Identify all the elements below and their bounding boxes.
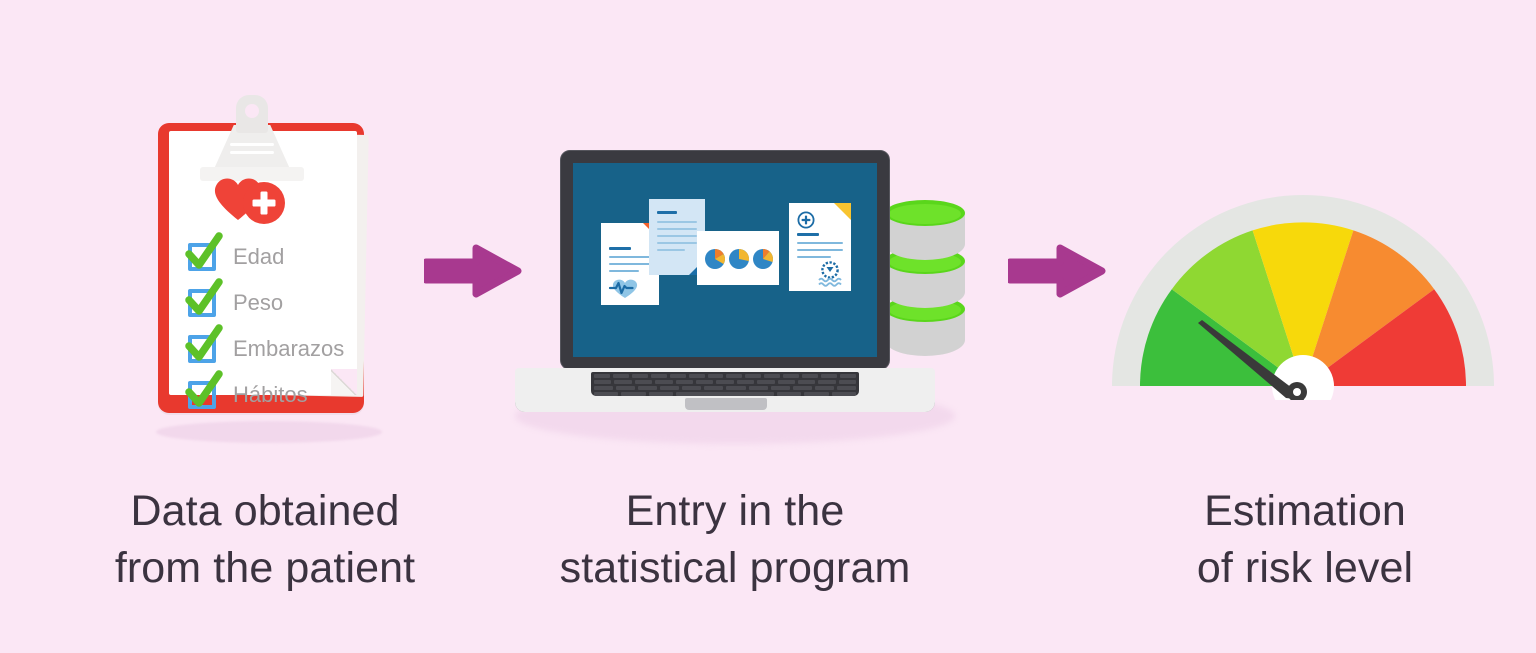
heart-plus-icon [206, 175, 316, 231]
database-disk-top [885, 200, 965, 226]
step-3-caption: Estimation of risk level [1085, 483, 1525, 597]
infographic-canvas: Edad Peso Embarazos [0, 0, 1536, 653]
medical-certificate-document[interactable] [789, 203, 851, 291]
check-icon [185, 232, 223, 277]
check-icon [185, 324, 223, 369]
three-pie-charts [703, 247, 775, 276]
medical-plus-icon [797, 211, 815, 234]
checklist-item-label: Embarazos [233, 335, 344, 363]
clipboard-clip-line [230, 143, 274, 146]
clipboard-clip-hole [245, 104, 259, 118]
laptop-lid [560, 150, 890, 370]
checklist-item-label: Edad [233, 243, 284, 271]
check-icon [185, 370, 223, 415]
risk-level-gauge [1108, 190, 1498, 400]
paper-fold-corner [331, 369, 357, 395]
database-disk-top-inner [889, 204, 961, 224]
laptop-keyboard[interactable] [591, 372, 859, 396]
clipboard-shadow [156, 421, 382, 443]
pie-chart-document[interactable] [697, 231, 779, 285]
laptop-screen[interactable] [573, 163, 877, 357]
step-1-illustration: Edad Peso Embarazos [150, 95, 390, 445]
database-stack [885, 200, 965, 360]
clipboard-clip-line [230, 151, 274, 154]
heartbeat-icon [608, 277, 642, 306]
step-1-caption: Data obtained from the patient [40, 483, 490, 597]
step-2-illustration [505, 150, 975, 440]
step-3-illustration [1108, 190, 1498, 400]
check-icon [185, 278, 223, 323]
seal-stamp-icon [815, 261, 845, 294]
checklist-item-label: Peso [233, 289, 283, 317]
arrow-step2-to-step3 [1008, 243, 1106, 304]
laptop-trackpad[interactable] [685, 398, 767, 410]
checklist-item-label: Hábitos [233, 381, 308, 409]
step-2-caption: Entry in the statistical program [510, 483, 960, 597]
database-disk [885, 200, 965, 266]
